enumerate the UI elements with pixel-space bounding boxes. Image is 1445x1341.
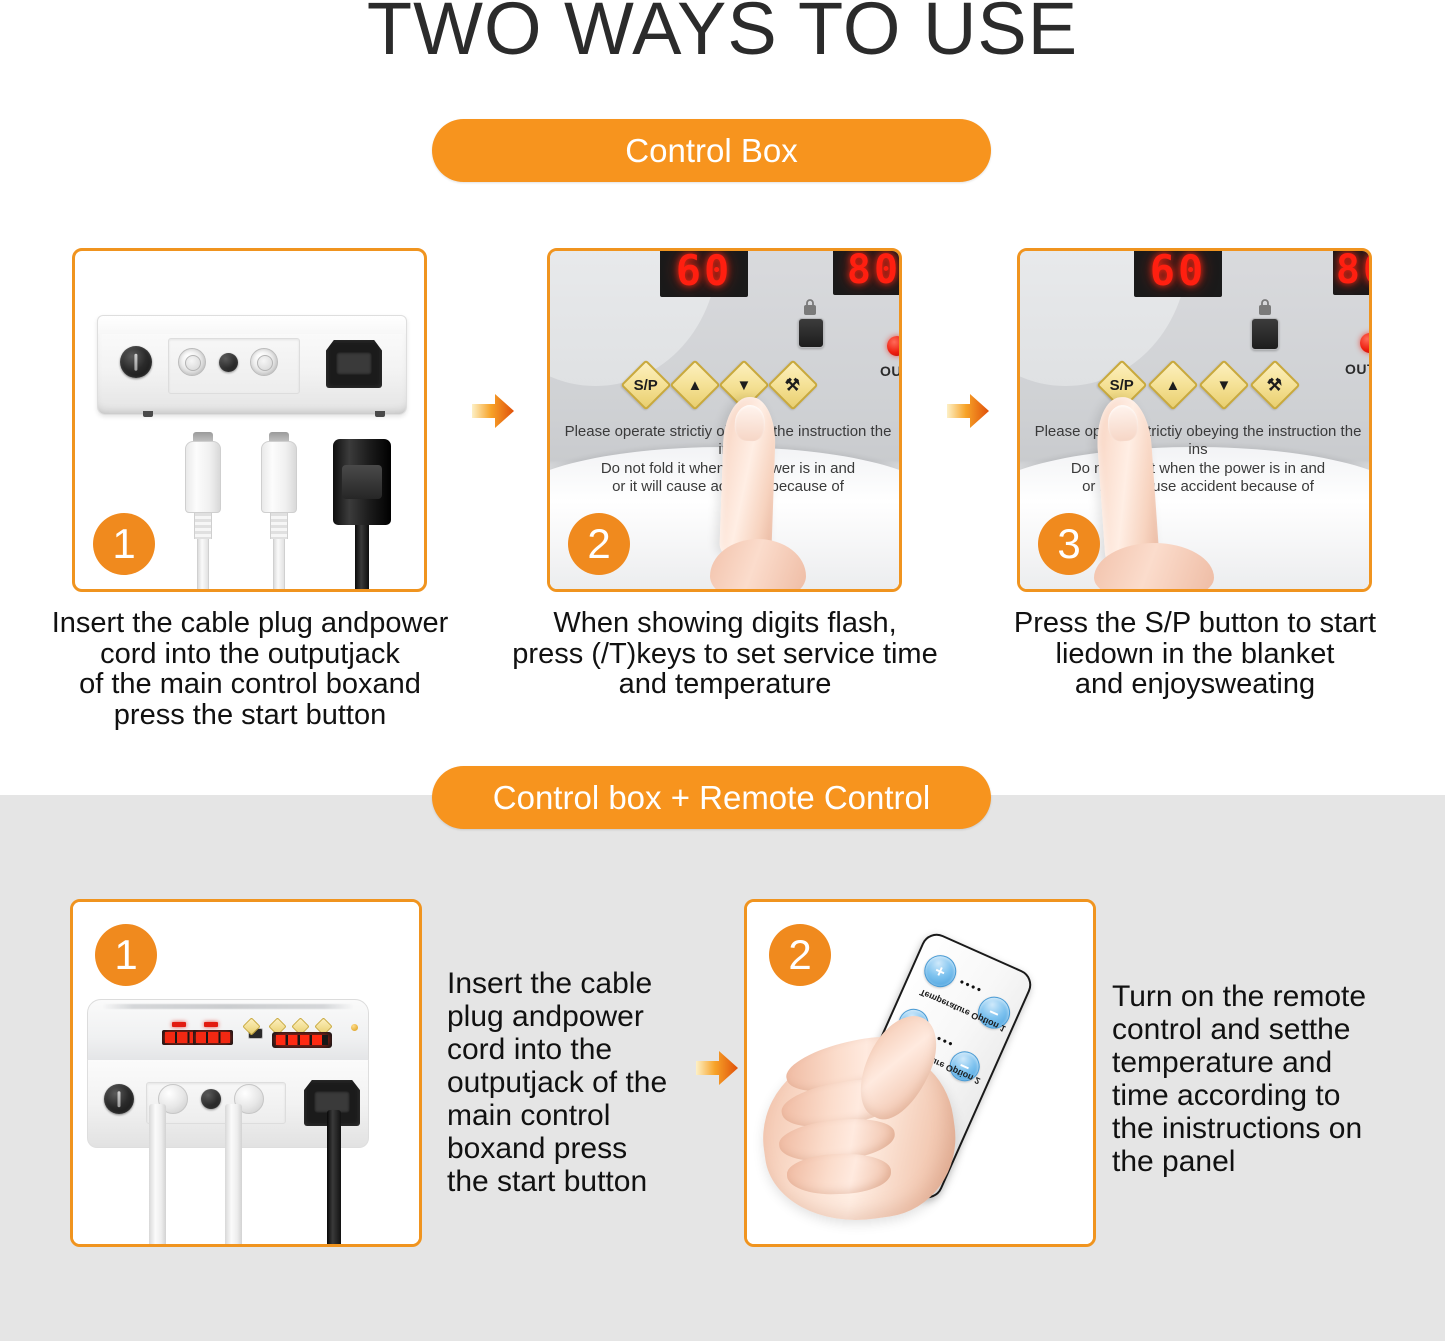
temp1-indicator: [172, 1022, 186, 1027]
reset-button-b: [201, 1089, 221, 1109]
output-indicator-led-2: [887, 336, 902, 356]
temp2-display-small: [193, 1030, 233, 1045]
iec-plug-head: [333, 439, 391, 525]
din-cable-plug-1: [185, 441, 221, 592]
output-label-2: OUTPUT: [880, 363, 902, 379]
white-cable-right: [225, 1104, 242, 1247]
step-caption-2: When showing digits flash, press (/T)key…: [490, 608, 960, 700]
black-power-cord: [327, 1110, 341, 1247]
din-socket-left: [178, 348, 206, 376]
hand-remote-illustration: + •••• − Temperature Option 1 + •••• − T…: [747, 902, 1093, 1244]
output-label-3: OUT: [1345, 361, 1372, 377]
time-display-large-small: [272, 1032, 332, 1048]
step-number-badge-1: 1: [93, 513, 155, 575]
step-number-badge-2: 2: [568, 513, 630, 575]
step-number-badge-4: 1: [95, 924, 157, 986]
power-rocker-switch-b: [104, 1084, 134, 1114]
step-image-panel-5: + •••• − Temperature Option 1 + •••• − T…: [744, 899, 1096, 1247]
finger-pressing-down-2: [719, 396, 777, 558]
lock-icon-3: [1257, 298, 1273, 316]
box-foot-right: [375, 411, 385, 417]
right-arrow-icon-1: [470, 391, 516, 431]
temp2-indicator: [204, 1022, 218, 1027]
right-arrow-icon-2: [945, 391, 991, 431]
iec-cable-plug: [333, 439, 391, 592]
step-caption-5: Turn on the remote control and setthe te…: [1112, 980, 1402, 1178]
din-plug-head-1: [185, 441, 221, 513]
section-header-remote: Control box + Remote Control: [432, 766, 991, 829]
printed-label-strip: [102, 1004, 354, 1010]
power-cord: [355, 525, 369, 592]
step-image-panel-1: 1: [72, 248, 427, 592]
step-image-panel-2: 60 80 OUTPUT S/P ▲ ▼: [547, 248, 902, 592]
din-plug-boot-1: [194, 513, 211, 539]
box-foot-left: [143, 411, 153, 417]
section-header-control-box: Control Box: [432, 119, 991, 182]
right-arrow-icon-3: [694, 1048, 740, 1088]
din-cable-plug-2: [261, 441, 297, 592]
control-box-plugged-illustration: 1: [73, 902, 419, 1244]
din-plug-head-2: [261, 441, 297, 513]
control-box-rear-illustration: 1: [75, 251, 424, 589]
control-box-body: [97, 315, 407, 415]
control-panel-illustration-3: 60 80 OUT S/P ▲ ▼ ⚒ P: [1020, 251, 1369, 589]
step-caption-4: Insert the cable plug andpower cord into…: [447, 967, 687, 1198]
lock-key-button-3: [1251, 318, 1279, 350]
iec-power-inlet: [326, 340, 382, 388]
din-plug-boot-2: [270, 513, 287, 539]
control-box-top-lip: [98, 316, 406, 334]
power-rocker-switch: [120, 346, 152, 378]
step-image-panel-4: 1: [70, 899, 422, 1247]
page-title: TWO WAYS TO USE: [0, 0, 1445, 71]
temp1-level-dots: ••••: [958, 976, 986, 997]
temperature-display-3: 80: [1333, 248, 1372, 295]
control-panel-illustration-2: 60 80 OUTPUT S/P ▲ ▼: [550, 251, 899, 589]
infographic-page: TWO WAYS TO USE Control Box: [0, 0, 1445, 1341]
step-image-panel-3: 60 80 OUT S/P ▲ ▼ ⚒ P: [1017, 248, 1372, 592]
step-caption-1: Insert the cable plug andpower cord into…: [25, 608, 475, 731]
din-cable-1: [197, 539, 210, 592]
din-cable-2: [273, 539, 286, 592]
step-number-badge-5: 2: [769, 924, 831, 986]
lock-icon-2: [802, 298, 818, 316]
lock-key-button-2: [798, 318, 824, 348]
step-caption-3: Press the S/P button to start liedown in…: [990, 608, 1400, 700]
temp1-plus-button[interactable]: +: [919, 950, 961, 992]
status-led-small: [351, 1024, 358, 1031]
time-display-3: 60: [1134, 248, 1222, 297]
white-cable-left: [149, 1104, 166, 1247]
din-socket-right: [250, 348, 278, 376]
time-display-2: 60: [660, 248, 748, 297]
reset-button: [219, 353, 238, 372]
fingernail-2: [734, 405, 765, 442]
control-box-top-face: [87, 999, 369, 1063]
temperature-display-2: 80: [833, 248, 902, 295]
step-number-badge-3: 3: [1038, 513, 1100, 575]
fingernail-3: [1107, 404, 1139, 442]
warning-text-3: Please operate strictiy obeying the inst…: [1026, 423, 1370, 496]
